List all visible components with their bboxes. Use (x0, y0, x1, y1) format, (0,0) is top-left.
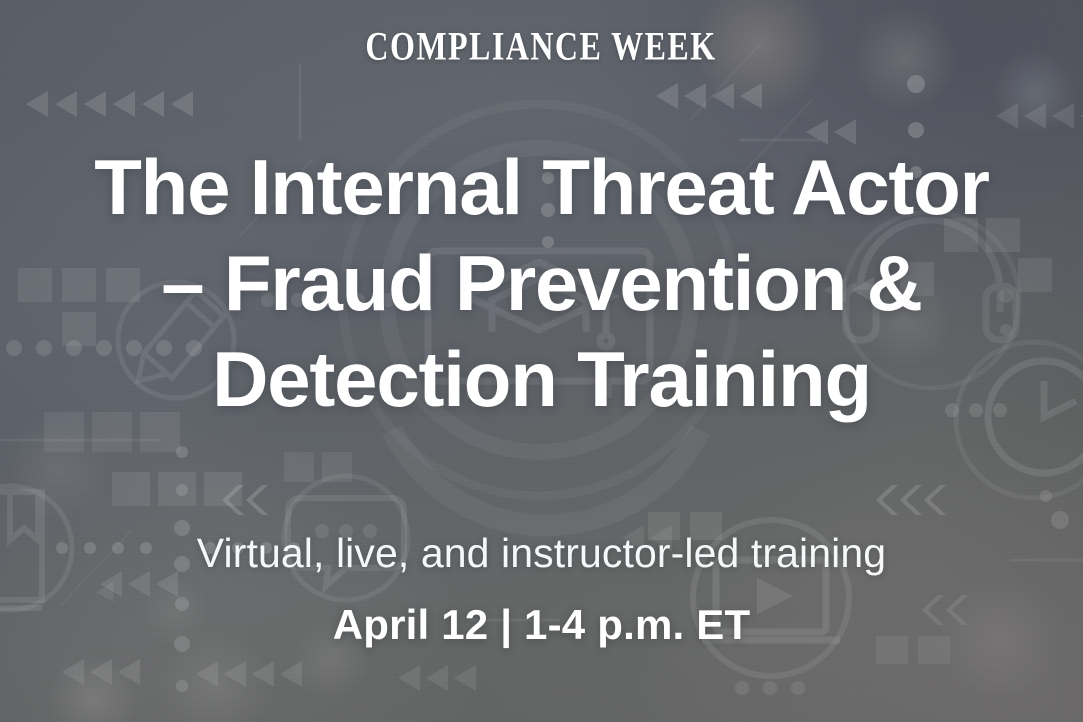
promo-banner: COMPLIANCE WEEK The Internal Threat Acto… (0, 0, 1083, 722)
headline-line-2: – Fraud Prevention & (24, 235, 1059, 331)
banner-content: COMPLIANCE WEEK The Internal Threat Acto… (0, 0, 1083, 722)
headline-line-3: Detection Training (24, 331, 1059, 427)
event-date: April 12 | 1-4 p.m. ET (333, 602, 751, 648)
headline-line-1: The Internal Threat Actor (24, 139, 1059, 235)
subtitle: Virtual, live, and instructor-led traini… (197, 531, 886, 576)
page-title: The Internal Threat Actor – Fraud Preven… (24, 139, 1059, 427)
brand-logo: COMPLIANCE WEEK (366, 28, 717, 68)
